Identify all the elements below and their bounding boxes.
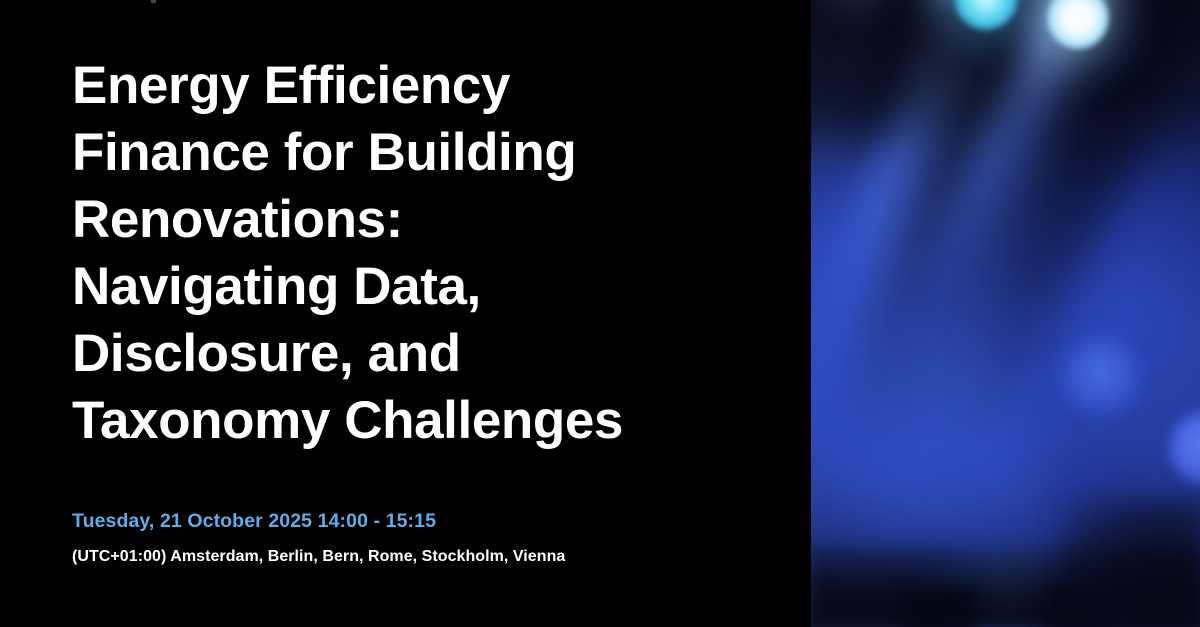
stage-silhouette-left [902, 589, 976, 627]
top-edge-artifact [151, 0, 156, 3]
stage-lights-photo [810, 0, 1200, 627]
event-datetime: Tuesday, 21 October 2025 14:00 - 15:15 [72, 508, 782, 534]
corner-vignette [1060, 497, 1200, 627]
event-timezone: (UTC+01:00) Amsterdam, Berlin, Bern, Rom… [72, 546, 782, 568]
event-meta: Tuesday, 21 October 2025 14:00 - 15:15 (… [72, 508, 782, 568]
event-banner: Energy Efficiency Finance for Building R… [0, 0, 1200, 627]
page-title: Energy Efficiency Finance for Building R… [72, 52, 772, 454]
photo-layers [810, 0, 1200, 627]
content-panel: Energy Efficiency Finance for Building R… [0, 0, 810, 627]
bokeh-orb-middle [1062, 338, 1140, 416]
